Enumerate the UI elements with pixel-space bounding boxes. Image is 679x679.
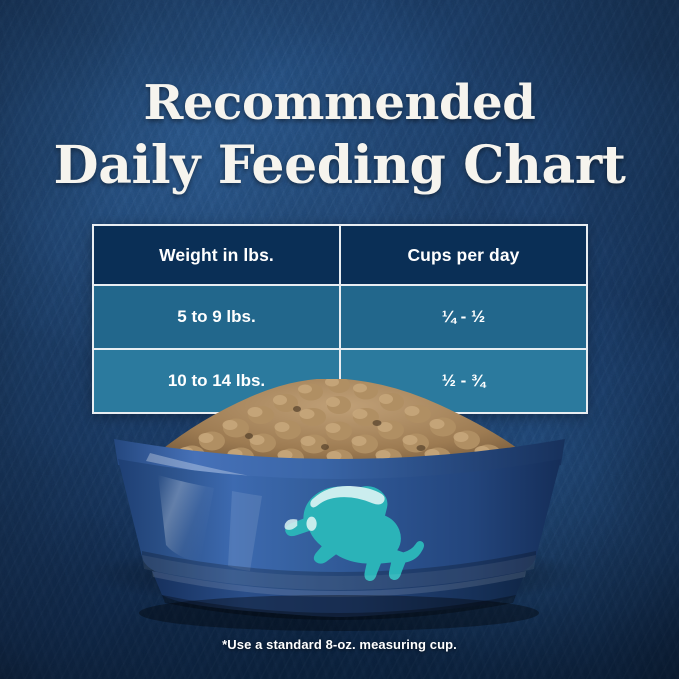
dog-food-bowl-illustration xyxy=(0,379,679,679)
footnote-measuring-cup: *Use a standard 8-oz. measuring cup. xyxy=(0,637,679,652)
page-title-line-2: Daily Feeding Chart xyxy=(30,134,649,198)
table-header-row: Weight in lbs. Cups per day xyxy=(94,226,586,284)
bowl-contact-shadow xyxy=(139,595,539,631)
cell-weight: 5 to 9 lbs. xyxy=(94,286,341,348)
table-row: 5 to 9 lbs. ¼ - ½ xyxy=(94,284,586,348)
column-header-cups: Cups per day xyxy=(341,226,586,284)
page-title: Recommended Daily Feeding Chart xyxy=(0,74,679,198)
cell-cups: ¼ - ½ xyxy=(341,286,586,348)
buffalo-eye xyxy=(306,517,316,531)
column-header-weight: Weight in lbs. xyxy=(94,226,341,284)
page-title-line-1: Recommended xyxy=(30,74,649,134)
feeding-chart-poster: Recommended Daily Feeding Chart Weight i… xyxy=(0,0,679,679)
